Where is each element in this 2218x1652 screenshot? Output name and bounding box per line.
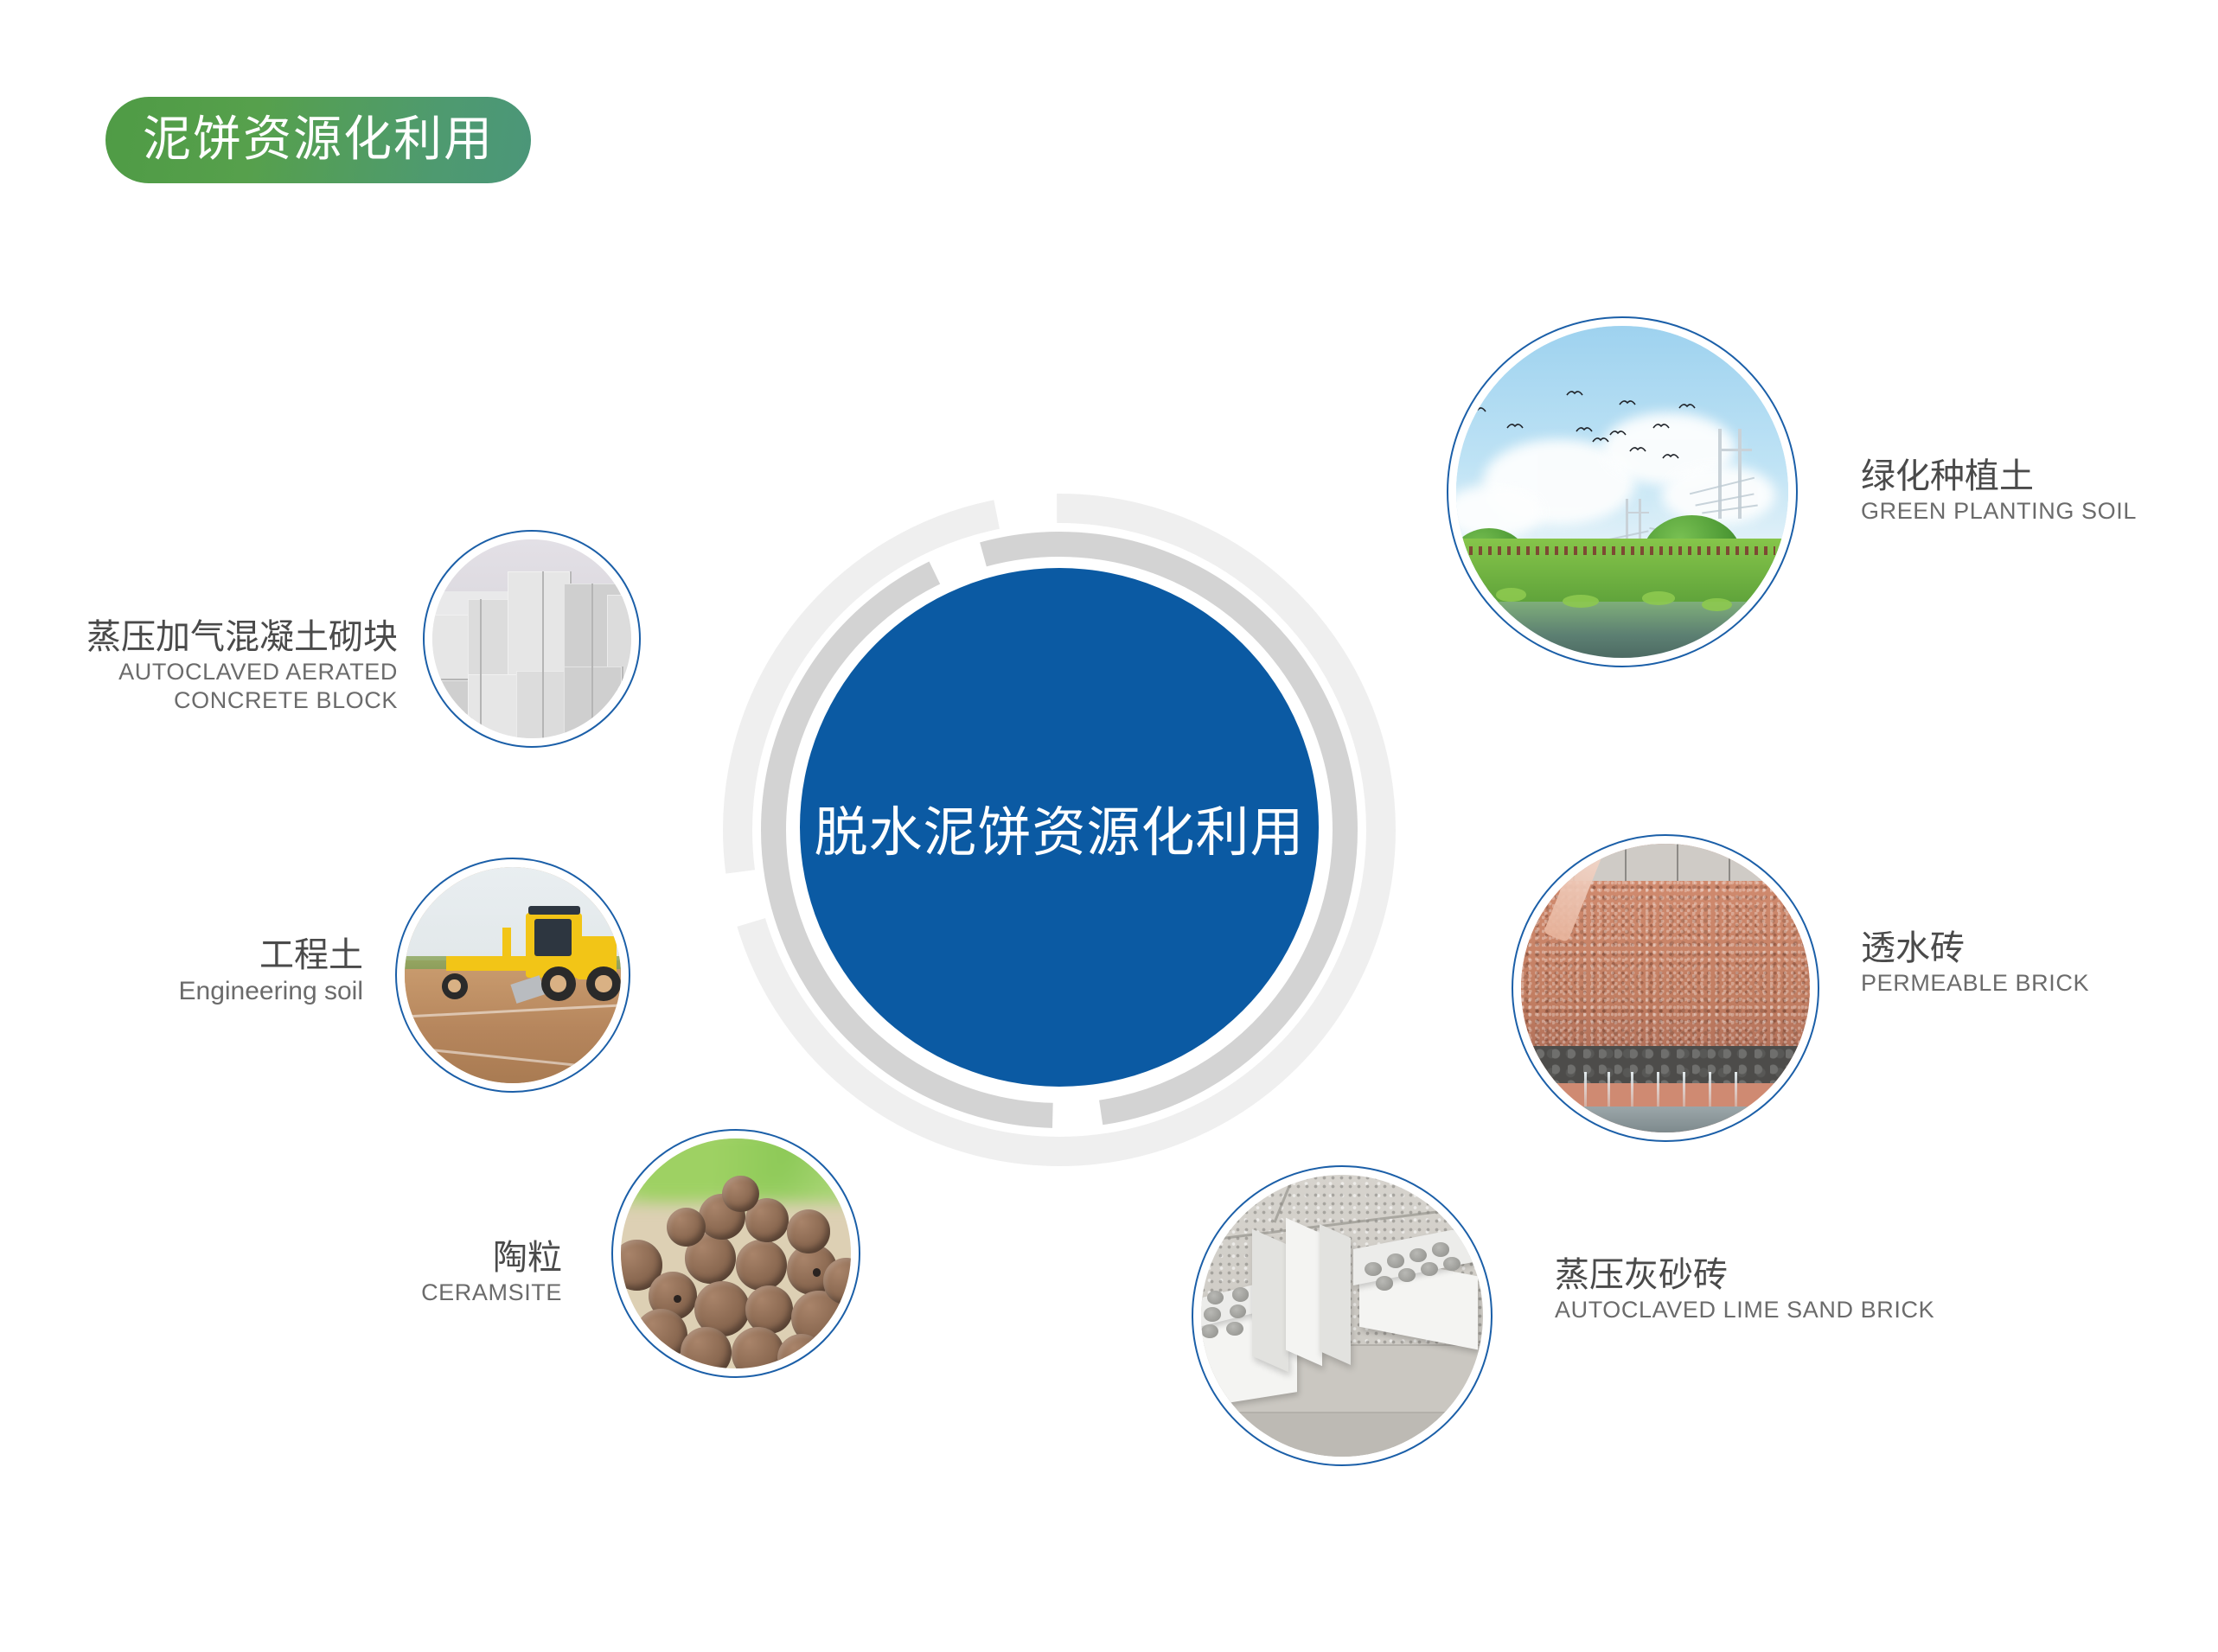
- label-engineering-soil: 工程土 Engineering soil: [35, 935, 363, 1008]
- label-autoclaved-lime-sand-brick: 蒸压灰砂砖 AUTOCLAVED LIME SAND BRICK: [1555, 1255, 1970, 1324]
- center-hub: 脱水泥饼资源化利用: [722, 493, 1397, 1167]
- bubble-engineering-soil[interactable]: [395, 858, 630, 1093]
- bubble-autoclaved-lime-sand-brick[interactable]: [1192, 1165, 1493, 1466]
- hub-title: 脱水泥饼资源化利用: [814, 788, 1304, 866]
- label-cn-engineering-soil: 工程土: [35, 935, 363, 976]
- label-en1-engineering-soil: Engineering soil: [35, 976, 363, 1008]
- label-cn-green-planting-soil: 绿化种植土: [1861, 456, 2218, 497]
- bubble-autoclaved-aerated-concrete-block[interactable]: [423, 530, 641, 748]
- bubble-ceramsite[interactable]: [611, 1129, 860, 1378]
- label-en1-ceramsite: CERAMSITE: [311, 1279, 562, 1307]
- image-engineering-soil: [405, 867, 621, 1083]
- bubble-permeable-brick[interactable]: [1512, 834, 1819, 1142]
- label-en1-permeable-brick: PERMEABLE BRICK: [1861, 969, 2218, 998]
- label-permeable-brick: 透水砖 PERMEABLE BRICK: [1861, 928, 2218, 998]
- label-en1-green-planting-soil: GREEN PLANTING SOIL: [1861, 497, 2218, 526]
- section-badge-label: 泥饼资源化利用: [143, 116, 494, 164]
- label-cn-ceramsite: 陶粒: [311, 1238, 562, 1279]
- label-green-planting-soil: 绿化种植土 GREEN PLANTING SOIL: [1861, 456, 2218, 526]
- image-green-planting-soil: [1456, 326, 1788, 658]
- label-en1-autoclaved-lime-sand-brick: AUTOCLAVED LIME SAND BRICK: [1555, 1296, 1970, 1324]
- hub-core: 脱水泥饼资源化利用: [800, 568, 1319, 1087]
- image-autoclaved-lime-sand-brick: [1201, 1175, 1483, 1457]
- label-autoclaved-aerated-concrete-block: 蒸压加气混凝土砌块 AUTOCLAVED AERATED CONCRETE BL…: [35, 617, 398, 715]
- label-ceramsite: 陶粒 CERAMSITE: [311, 1238, 562, 1307]
- label-en2-autoclaved-aerated-concrete-block: CONCRETE BLOCK: [35, 686, 398, 715]
- image-permeable-brick: [1521, 844, 1810, 1132]
- label-cn-permeable-brick: 透水砖: [1861, 928, 2218, 969]
- label-cn-autoclaved-aerated-concrete-block: 蒸压加气混凝土砌块: [35, 617, 398, 658]
- infographic-canvas: 泥饼资源化利用 脱水泥饼资源化利用: [0, 0, 2218, 1652]
- image-ceramsite: [621, 1139, 851, 1368]
- image-autoclaved-aerated-concrete-block: [432, 539, 631, 738]
- label-cn-autoclaved-lime-sand-brick: 蒸压灰砂砖: [1555, 1255, 1970, 1296]
- bubble-green-planting-soil[interactable]: [1447, 316, 1798, 667]
- label-en1-autoclaved-aerated-concrete-block: AUTOCLAVED AERATED: [35, 658, 398, 686]
- section-badge: 泥饼资源化利用: [105, 97, 531, 183]
